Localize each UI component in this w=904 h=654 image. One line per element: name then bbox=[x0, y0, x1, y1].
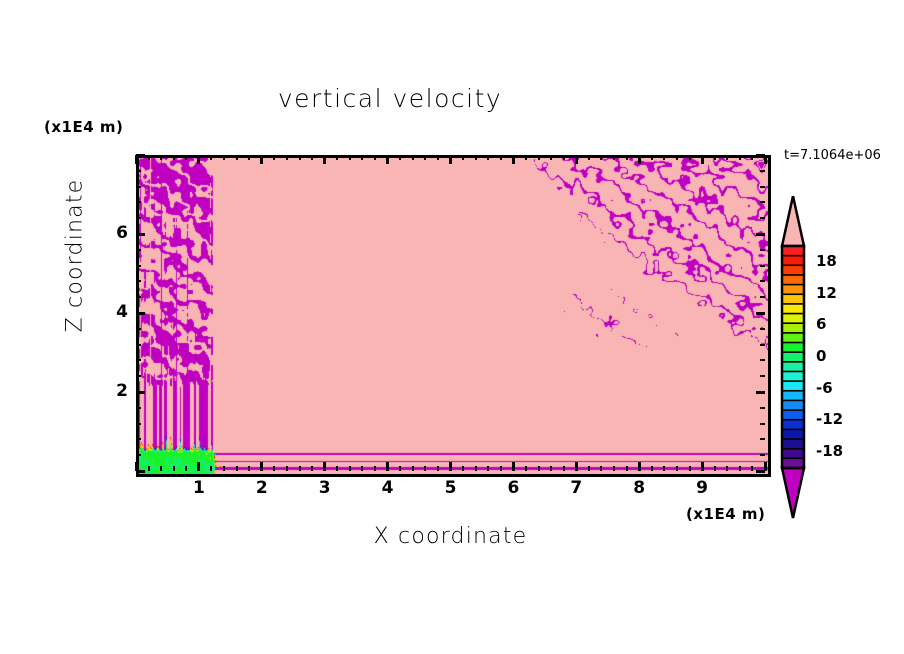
y-axis-tick bbox=[136, 265, 141, 267]
x-axis-tick bbox=[323, 462, 326, 471]
x-axis-tick bbox=[437, 155, 439, 160]
y-axis-tick bbox=[760, 280, 765, 282]
y-axis-tick bbox=[760, 217, 765, 219]
x-axis-tick bbox=[374, 466, 376, 471]
x-axis-tick bbox=[399, 155, 401, 160]
x-axis-tick bbox=[500, 466, 502, 471]
x-axis-tick bbox=[588, 466, 590, 471]
x-axis-tick bbox=[462, 155, 464, 160]
y-axis-tick bbox=[136, 154, 145, 157]
x-axis-tick bbox=[726, 155, 728, 160]
x-axis-tick bbox=[311, 466, 313, 471]
colorbar-band bbox=[782, 246, 804, 256]
x-axis-tick bbox=[437, 466, 439, 471]
x-axis-tick bbox=[248, 155, 250, 160]
y-axis-tick bbox=[136, 454, 141, 456]
y-axis-tick bbox=[760, 201, 765, 203]
x-axis-tick bbox=[701, 155, 704, 164]
x-axis-tick bbox=[197, 462, 200, 471]
x-axis-tick bbox=[236, 466, 238, 471]
x-axis-tick bbox=[487, 155, 489, 160]
x-axis-tick-label: 3 bbox=[310, 478, 340, 498]
y-axis-tick bbox=[760, 454, 765, 456]
colorbar-band bbox=[782, 429, 804, 439]
colorbar-band bbox=[782, 391, 804, 401]
y-axis-tick bbox=[756, 312, 765, 315]
x-axis-tick bbox=[512, 155, 515, 164]
x-axis-tick bbox=[487, 466, 489, 471]
colorbar-tick-label: 6 bbox=[816, 315, 826, 333]
y-axis-tick bbox=[136, 312, 145, 315]
colorbar-band bbox=[782, 439, 804, 449]
colorbar-band bbox=[782, 371, 804, 381]
x-axis-tick bbox=[185, 155, 187, 160]
y-axis-tick bbox=[136, 217, 141, 219]
y-axis-tick bbox=[136, 170, 141, 172]
colorbar-tick-label: 12 bbox=[816, 284, 837, 302]
x-axis-tick bbox=[311, 155, 313, 160]
contour-field bbox=[139, 158, 768, 474]
x-axis-tick bbox=[651, 466, 653, 471]
x-axis-tick bbox=[651, 155, 653, 160]
colorbar-band bbox=[782, 304, 804, 314]
x-axis-tick bbox=[525, 466, 527, 471]
x-axis-tick bbox=[424, 155, 426, 160]
y-axis-tick-label: 4 bbox=[104, 302, 128, 322]
y-axis-tick bbox=[136, 359, 141, 361]
x-axis-tick bbox=[173, 155, 175, 160]
y-axis-tick bbox=[760, 375, 765, 377]
y-axis-tick-label: 2 bbox=[104, 381, 128, 401]
x-axis-tick bbox=[273, 155, 275, 160]
x-axis-tick bbox=[148, 466, 150, 471]
plot-canvas: vertical velocity (x1E4 m) (x1E4 m) t=7.… bbox=[0, 0, 904, 654]
x-axis-tick bbox=[638, 462, 641, 471]
colorbar-band bbox=[782, 362, 804, 372]
colorbar-band bbox=[782, 449, 804, 459]
x-axis-tick bbox=[299, 155, 301, 160]
x-axis-tick-label: 7 bbox=[561, 478, 591, 498]
colorbar-band bbox=[782, 256, 804, 266]
x-axis-tick bbox=[185, 466, 187, 471]
colorbar-tick-label: 18 bbox=[816, 252, 837, 270]
y-axis-tick bbox=[756, 233, 765, 236]
x-axis-tick-label: 5 bbox=[436, 478, 466, 498]
colorbar-band bbox=[782, 314, 804, 324]
x-axis-tick-label: 4 bbox=[373, 478, 403, 498]
x-axis-tick bbox=[689, 155, 691, 160]
y-axis-tick bbox=[760, 359, 765, 361]
x-axis-tick bbox=[197, 155, 200, 164]
x-axis-tick bbox=[160, 155, 162, 160]
x-axis-tick-label: 1 bbox=[184, 478, 214, 498]
x-axis-tick bbox=[613, 466, 615, 471]
colorbar-band bbox=[782, 352, 804, 362]
y-axis-tick bbox=[136, 280, 141, 282]
x-axis-tick bbox=[412, 466, 414, 471]
x-axis-title: X coordinate bbox=[136, 524, 765, 549]
contour-plot-area bbox=[136, 155, 771, 477]
y-axis-tick bbox=[756, 154, 765, 157]
x-axis-tick bbox=[236, 155, 238, 160]
x-axis-tick bbox=[160, 466, 162, 471]
y-axis-tick bbox=[136, 391, 145, 394]
y-axis-tick bbox=[136, 438, 141, 440]
x-axis-tick bbox=[386, 462, 389, 471]
x-axis-tick bbox=[286, 155, 288, 160]
x-axis-tick bbox=[726, 466, 728, 471]
y-axis-tick bbox=[760, 296, 765, 298]
x-axis-tick bbox=[260, 155, 263, 164]
x-axis-tick bbox=[412, 155, 414, 160]
x-axis-tick bbox=[386, 155, 389, 164]
colorbar-tick-label: -6 bbox=[816, 379, 833, 397]
colorbar-band bbox=[782, 285, 804, 295]
x-axis-tick bbox=[299, 466, 301, 471]
x-axis-tick bbox=[475, 466, 477, 471]
x-axis-tick bbox=[575, 462, 578, 471]
colorbar-band bbox=[782, 343, 804, 353]
y-axis-tick bbox=[760, 265, 765, 267]
y-axis-tick bbox=[136, 296, 141, 298]
x-axis-tick bbox=[663, 155, 665, 160]
x-axis-tick bbox=[361, 155, 363, 160]
x-axis-tick bbox=[676, 466, 678, 471]
x-axis-tick bbox=[273, 466, 275, 471]
x-axis-tick bbox=[538, 466, 540, 471]
y-axis-tick bbox=[760, 328, 765, 330]
x-axis-tick-label: 9 bbox=[687, 478, 717, 498]
x-axis-tick bbox=[512, 462, 515, 471]
x-axis-tick bbox=[626, 466, 628, 471]
x-axis-tick bbox=[676, 155, 678, 160]
x-axis-tick bbox=[323, 155, 326, 164]
x-axis-tick bbox=[223, 155, 225, 160]
x-axis-tick bbox=[714, 466, 716, 471]
x-axis-tick bbox=[550, 466, 552, 471]
x-axis-tick bbox=[374, 155, 376, 160]
x-axis-tick-label: 6 bbox=[498, 478, 528, 498]
x-axis-tick bbox=[424, 466, 426, 471]
x-axis-tick bbox=[701, 462, 704, 471]
colorbar-band bbox=[782, 333, 804, 343]
y-axis-tick bbox=[136, 249, 141, 251]
y-axis-tick bbox=[136, 201, 141, 203]
x-axis-tick bbox=[600, 155, 602, 160]
colorbar-over-arrow bbox=[782, 196, 804, 246]
x-axis-tick bbox=[550, 155, 552, 160]
x-axis-tick bbox=[361, 466, 363, 471]
y-axis-tick bbox=[136, 328, 141, 330]
x-axis-tick bbox=[336, 155, 338, 160]
x-axis-tick bbox=[349, 466, 351, 471]
x-axis-tick bbox=[525, 155, 527, 160]
colorbar-band bbox=[782, 265, 804, 275]
x-axis-tick bbox=[449, 155, 452, 164]
colorbar-band bbox=[782, 410, 804, 420]
x-axis-tick bbox=[613, 155, 615, 160]
colorbar-band bbox=[782, 323, 804, 333]
x-axis-tick bbox=[148, 155, 150, 160]
colorbar-band bbox=[782, 275, 804, 285]
y-axis-tick bbox=[136, 407, 141, 409]
x-axis-tick bbox=[475, 155, 477, 160]
page-title: vertical velocity bbox=[0, 84, 780, 113]
y-axis-tick bbox=[136, 423, 141, 425]
colorbar-band bbox=[782, 294, 804, 304]
x-axis-tick bbox=[689, 466, 691, 471]
x-axis-tick bbox=[210, 466, 212, 471]
x-axis-tick bbox=[663, 466, 665, 471]
x-axis-tick bbox=[173, 466, 175, 471]
colorbar: 181260-6-12-18 bbox=[770, 196, 900, 522]
colorbar-gradient bbox=[770, 196, 900, 522]
colorbar-under-arrow bbox=[782, 468, 804, 518]
y-axis-tick bbox=[136, 344, 141, 346]
x-axis-tick bbox=[739, 466, 741, 471]
colorbar-tick-label: 0 bbox=[816, 347, 826, 365]
x-axis-tick bbox=[714, 155, 716, 160]
y-axis-tick bbox=[760, 249, 765, 251]
y-axis-tick bbox=[136, 233, 145, 236]
y-axis-tick bbox=[756, 391, 765, 394]
x-axis-tick bbox=[260, 462, 263, 471]
y-axis-tick bbox=[756, 470, 765, 473]
x-axis-tick bbox=[286, 466, 288, 471]
colorbar-tick-label: -18 bbox=[816, 442, 843, 460]
y-axis-tick bbox=[136, 186, 141, 188]
colorbar-tick-label: -12 bbox=[816, 410, 843, 428]
x-axis-tick bbox=[751, 466, 753, 471]
x-axis-tick bbox=[563, 466, 565, 471]
colorbar-band bbox=[782, 400, 804, 410]
y-axis-unit-label: (x1E4 m) bbox=[44, 118, 123, 136]
y-axis-tick bbox=[760, 344, 765, 346]
y-axis-tick bbox=[136, 470, 145, 473]
colorbar-band bbox=[782, 420, 804, 430]
y-axis-tick bbox=[760, 423, 765, 425]
x-axis-tick bbox=[248, 466, 250, 471]
x-axis-tick bbox=[538, 155, 540, 160]
x-axis-tick bbox=[588, 155, 590, 160]
x-axis-tick bbox=[600, 466, 602, 471]
x-axis-tick bbox=[210, 155, 212, 160]
x-axis-tick bbox=[500, 155, 502, 160]
x-axis-tick bbox=[449, 462, 452, 471]
x-axis-tick bbox=[638, 155, 641, 164]
y-axis-tick-label: 6 bbox=[104, 223, 128, 243]
x-axis-tick bbox=[563, 155, 565, 160]
x-axis-tick bbox=[739, 155, 741, 160]
y-axis-title: Z coordinate bbox=[63, 156, 88, 356]
x-axis-tick bbox=[336, 466, 338, 471]
y-axis-tick bbox=[760, 170, 765, 172]
y-axis-tick bbox=[760, 438, 765, 440]
y-axis-tick bbox=[760, 407, 765, 409]
x-axis-tick bbox=[575, 155, 578, 164]
time-annotation: t=7.1064e+06 bbox=[784, 148, 881, 163]
y-axis-tick bbox=[136, 375, 141, 377]
x-axis-tick bbox=[462, 466, 464, 471]
x-axis-tick bbox=[223, 466, 225, 471]
x-axis-tick bbox=[399, 466, 401, 471]
x-axis-tick bbox=[349, 155, 351, 160]
x-axis-tick bbox=[626, 155, 628, 160]
x-axis-tick-label: 2 bbox=[247, 478, 277, 498]
y-axis-tick bbox=[760, 186, 765, 188]
x-axis-unit-label: (x1E4 m) bbox=[686, 505, 765, 523]
x-axis-tick bbox=[751, 155, 753, 160]
colorbar-band bbox=[782, 381, 804, 391]
x-axis-tick-label: 8 bbox=[624, 478, 654, 498]
